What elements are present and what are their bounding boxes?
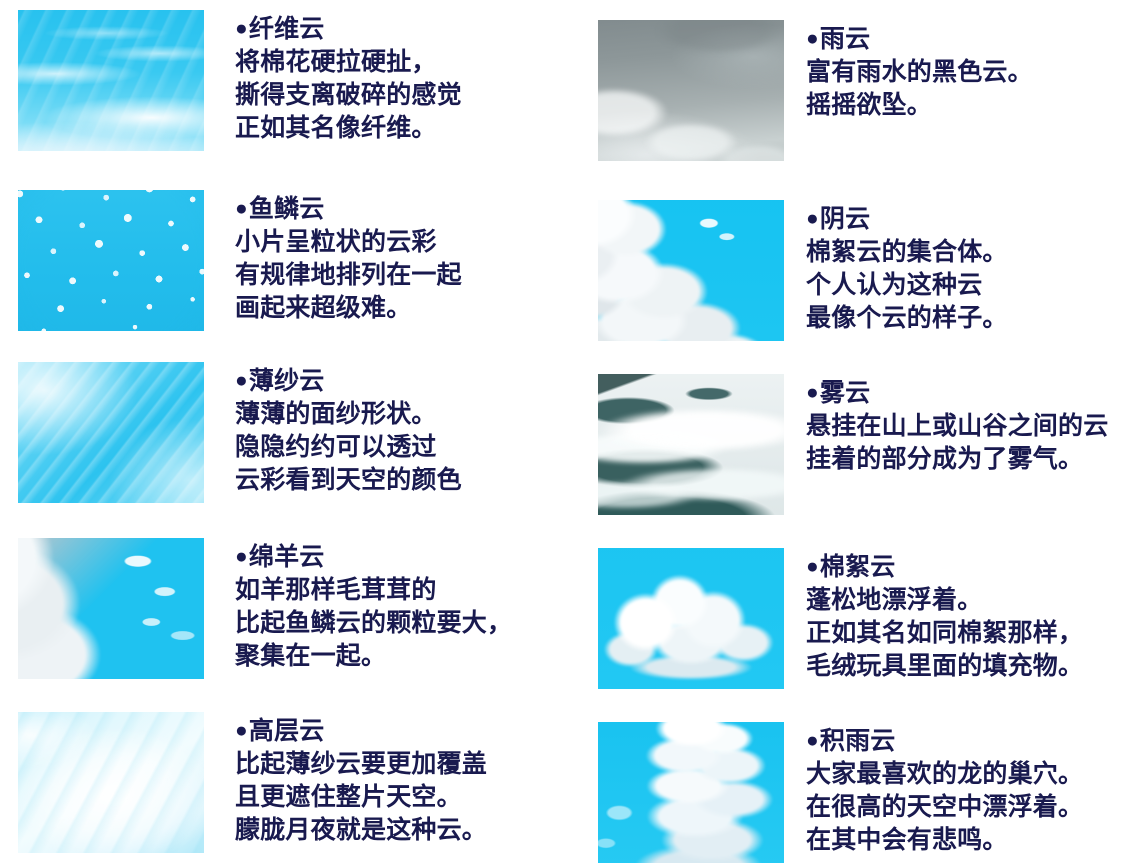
cloud-desc-line: 最像个云的样子。	[806, 302, 1122, 335]
rain-cloud-photo-layer	[598, 20, 784, 161]
cloud-desc-line: 正如其名如同棉絮那样，	[806, 617, 1122, 650]
cloud-text-altostratus: ●高层云比起薄纱云要更加覆盖且更遮住整片天空。朦胧月夜就是这种云。	[204, 712, 561, 847]
mackerel-sky-photo-layer	[18, 190, 204, 331]
altostratus-cloud-photo	[18, 712, 204, 853]
overcast-cloud-photo	[598, 200, 784, 341]
cloud-title-fog: ●雾云	[806, 376, 1122, 410]
fog-cloud-photo-layer	[598, 374, 784, 515]
cloud-entry-stratocumulus: ●阴云棉絮云的集合体。个人认为这种云最像个云的样子。	[561, 200, 1122, 341]
bullet-icon: ●	[235, 17, 248, 40]
bullet-icon: ●	[806, 27, 819, 50]
cloud-title-label: 雾云	[820, 379, 870, 407]
cloud-title-label: 棉絮云	[820, 553, 896, 581]
cloud-title-label: 高层云	[249, 717, 325, 745]
bullet-icon: ●	[806, 555, 819, 578]
cloud-desc-line: 悬挂在山上或山谷之间的云	[806, 410, 1122, 443]
cirrus-cloud-photo-layer	[18, 10, 204, 151]
cloud-title-cumulonimbus: ●积雨云	[806, 724, 1122, 758]
cloud-desc-line: 薄薄的面纱形状。	[235, 398, 561, 431]
cloud-title-altocumulus: ●绵羊云	[235, 540, 561, 574]
cloud-title-label: 雨云	[820, 25, 870, 53]
cumulonimbus-cloud-photo-layer	[598, 722, 784, 863]
cloud-title-cumulus: ●棉絮云	[806, 550, 1122, 584]
cloud-desc-line: 且更遮住整片天空。	[235, 781, 561, 814]
cumulus-cloud-photo	[598, 548, 784, 689]
cloud-entry-cirrus: ●纤维云将棉花硬拉硬扯，撕得支离破碎的感觉正如其名像纤维。	[0, 10, 561, 151]
cloud-entry-cirrocumulus: ●鱼鳞云小片呈粒状的云彩有规律地排列在一起画起来超级难。	[0, 190, 561, 331]
veil-cloud-photo-layer	[18, 362, 204, 503]
overcast-cloud-photo-layer	[598, 200, 784, 341]
cloud-title-label: 积雨云	[820, 727, 896, 755]
cloud-desc-line: 云彩看到天空的颜色	[235, 464, 561, 497]
cumulonimbus-cloud-photo	[598, 722, 784, 863]
cloud-text-cumulus: ●棉絮云蓬松地漂浮着。正如其名如同棉絮那样，毛绒玩具里面的填充物。	[784, 548, 1122, 683]
cloud-text-cirrostratus: ●薄纱云薄薄的面纱形状。隐隐约约可以透过云彩看到天空的颜色	[204, 362, 561, 497]
cloud-text-nimbostratus: ●雨云富有雨水的黑色云。摇摇欲坠。	[784, 20, 1122, 122]
cloud-title-cirrus: ●纤维云	[235, 12, 561, 46]
cloud-text-cirrocumulus: ●鱼鳞云小片呈粒状的云彩有规律地排列在一起画起来超级难。	[204, 190, 561, 325]
cloud-title-label: 纤维云	[249, 15, 325, 43]
cloud-title-label: 绵羊云	[249, 543, 325, 571]
left-column: ●纤维云将棉花硬拉硬扯，撕得支离破碎的感觉正如其名像纤维。●鱼鳞云小片呈粒状的云…	[0, 0, 561, 863]
cloud-entry-altocumulus: ●绵羊云如羊那样毛茸茸的比起鱼鳞云的颗粒要大，聚集在一起。	[0, 538, 561, 679]
cloud-desc-line: 蓬松地漂浮着。	[806, 584, 1122, 617]
mackerel-sky-photo	[18, 190, 204, 331]
bullet-icon: ●	[235, 369, 248, 392]
cloud-title-nimbostratus: ●雨云	[806, 22, 1122, 56]
cloud-text-stratocumulus: ●阴云棉絮云的集合体。个人认为这种云最像个云的样子。	[784, 200, 1122, 335]
cloud-text-altocumulus: ●绵羊云如羊那样毛茸茸的比起鱼鳞云的颗粒要大，聚集在一起。	[204, 538, 561, 673]
fog-cloud-photo	[598, 374, 784, 515]
cloud-text-cirrus: ●纤维云将棉花硬拉硬扯，撕得支离破碎的感觉正如其名像纤维。	[204, 10, 561, 145]
cloud-entry-cumulus: ●棉絮云蓬松地漂浮着。正如其名如同棉絮那样，毛绒玩具里面的填充物。	[561, 548, 1122, 689]
rain-cloud-photo	[598, 20, 784, 161]
cloud-desc-line: 聚集在一起。	[235, 640, 561, 673]
cloud-title-stratocumulus: ●阴云	[806, 202, 1122, 236]
cloud-desc-line: 比起鱼鳞云的颗粒要大，	[235, 607, 561, 640]
cloud-desc-line: 大家最喜欢的龙的巢穴。	[806, 758, 1122, 791]
sheep-cloud-photo-layer	[18, 538, 204, 679]
cloud-entry-altostratus: ●高层云比起薄纱云要更加覆盖且更遮住整片天空。朦胧月夜就是这种云。	[0, 712, 561, 853]
bullet-icon: ●	[806, 729, 819, 752]
cloud-desc-line: 画起来超级难。	[235, 292, 561, 325]
cloud-desc-line: 在很高的天空中漂浮着。	[806, 791, 1122, 824]
veil-cloud-photo	[18, 362, 204, 503]
cloud-entry-nimbostratus: ●雨云富有雨水的黑色云。摇摇欲坠。	[561, 20, 1122, 161]
cloud-desc-line: 隐隐约约可以透过	[235, 431, 561, 464]
cloud-desc-line: 个人认为这种云	[806, 269, 1122, 302]
cloud-title-label: 阴云	[820, 205, 870, 233]
cloud-entry-cirrostratus: ●薄纱云薄薄的面纱形状。隐隐约约可以透过云彩看到天空的颜色	[0, 362, 561, 503]
cumulus-cloud-photo-layer	[598, 548, 784, 689]
bullet-icon: ●	[235, 545, 248, 568]
cloud-desc-line: 撕得支离破碎的感觉	[235, 79, 561, 112]
cloud-title-cirrocumulus: ●鱼鳞云	[235, 192, 561, 226]
bullet-icon: ●	[806, 207, 819, 230]
cirrus-cloud-photo	[18, 10, 204, 151]
sheep-cloud-photo	[18, 538, 204, 679]
cloud-text-fog: ●雾云悬挂在山上或山谷之间的云挂着的部分成为了雾气。	[784, 374, 1122, 476]
cloud-entry-cumulonimbus: ●积雨云大家最喜欢的龙的巢穴。在很高的天空中漂浮着。在其中会有悲鸣。	[561, 722, 1122, 863]
cloud-desc-line: 挂着的部分成为了雾气。	[806, 443, 1122, 476]
cloud-desc-line: 朦胧月夜就是这种云。	[235, 814, 561, 847]
cloud-types-infographic: ●纤维云将棉花硬拉硬扯，撕得支离破碎的感觉正如其名像纤维。●鱼鳞云小片呈粒状的云…	[0, 0, 1122, 863]
bullet-icon: ●	[806, 381, 819, 404]
cloud-title-cirrostratus: ●薄纱云	[235, 364, 561, 398]
cloud-desc-line: 毛绒玩具里面的填充物。	[806, 650, 1122, 683]
cloud-entry-fog: ●雾云悬挂在山上或山谷之间的云挂着的部分成为了雾气。	[561, 374, 1122, 515]
cloud-desc-line: 在其中会有悲鸣。	[806, 824, 1122, 857]
cloud-desc-line: 摇摇欲坠。	[806, 89, 1122, 122]
cloud-desc-line: 将棉花硬拉硬扯，	[235, 46, 561, 79]
cloud-desc-line: 富有雨水的黑色云。	[806, 56, 1122, 89]
bullet-icon: ●	[235, 197, 248, 220]
cloud-desc-line: 有规律地排列在一起	[235, 259, 561, 292]
altostratus-cloud-photo-layer	[18, 712, 204, 853]
cloud-title-label: 薄纱云	[249, 367, 325, 395]
cloud-title-altostratus: ●高层云	[235, 714, 561, 748]
cloud-desc-line: 正如其名像纤维。	[235, 112, 561, 145]
cloud-desc-line: 如羊那样毛茸茸的	[235, 574, 561, 607]
cloud-desc-line: 比起薄纱云要更加覆盖	[235, 748, 561, 781]
right-column: ●雨云富有雨水的黑色云。摇摇欲坠。●阴云棉絮云的集合体。个人认为这种云最像个云的…	[561, 0, 1122, 863]
cloud-desc-line: 小片呈粒状的云彩	[235, 226, 561, 259]
cloud-desc-line: 棉絮云的集合体。	[806, 236, 1122, 269]
bullet-icon: ●	[235, 719, 248, 742]
cloud-title-label: 鱼鳞云	[249, 195, 325, 223]
cloud-text-cumulonimbus: ●积雨云大家最喜欢的龙的巢穴。在很高的天空中漂浮着。在其中会有悲鸣。	[784, 722, 1122, 857]
